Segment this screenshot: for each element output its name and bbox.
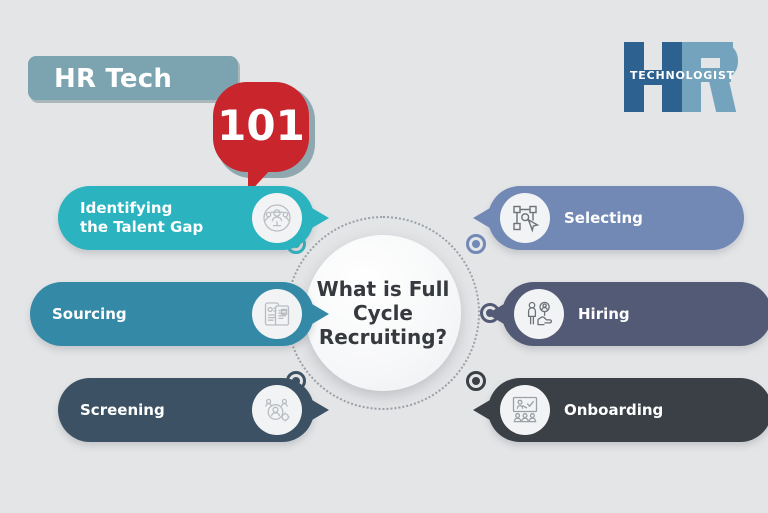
pill-tail [312,208,329,228]
candidate-screening-icon [252,385,302,435]
stage-label: Screening [80,401,165,420]
handshake-hire-icon [514,289,564,339]
stage-onboarding[interactable]: Onboarding [488,378,768,442]
brand-logo[interactable]: TECHNOLOGIST [624,42,740,112]
resume-documents-icon [252,289,302,339]
stage-label: Sourcing [52,305,127,324]
series-badge-number-bubble: 101 [213,82,309,172]
stage-hiring[interactable]: Hiring [502,282,768,346]
series-badge-bar-label: HR Tech [54,64,172,94]
stage-label: Hiring [578,305,630,324]
pill-tail [473,208,490,228]
talent-gap-icon [252,193,302,243]
series-badge: HR Tech 101 [28,56,238,100]
logo-wordmark: TECHNOLOGIST [630,69,740,82]
infographic-canvas: HR Tech 101 TECHNOLOGIST What is Full Cy… [0,0,768,513]
cursor-select-icon [500,193,550,243]
stage-label: Identifying the Talent Gap [80,199,203,237]
stage-screening[interactable]: Screening [58,378,314,442]
stage-sourcing[interactable]: Sourcing [30,282,314,346]
stage-label: Onboarding [564,401,663,420]
stage-label: Selecting [564,209,643,228]
connector-selecting [466,234,486,254]
training-presentation-icon [500,385,550,435]
pill-tail [312,304,329,324]
series-badge-number-label: 101 [213,102,309,150]
pill-tail [312,400,329,420]
pill-tail [473,400,490,420]
connector-onboarding [466,371,486,391]
stage-selecting[interactable]: Selecting [488,186,744,250]
pill-tail [487,304,504,324]
stage-identifying-the-talent-gap[interactable]: Identifying the Talent Gap [58,186,314,250]
